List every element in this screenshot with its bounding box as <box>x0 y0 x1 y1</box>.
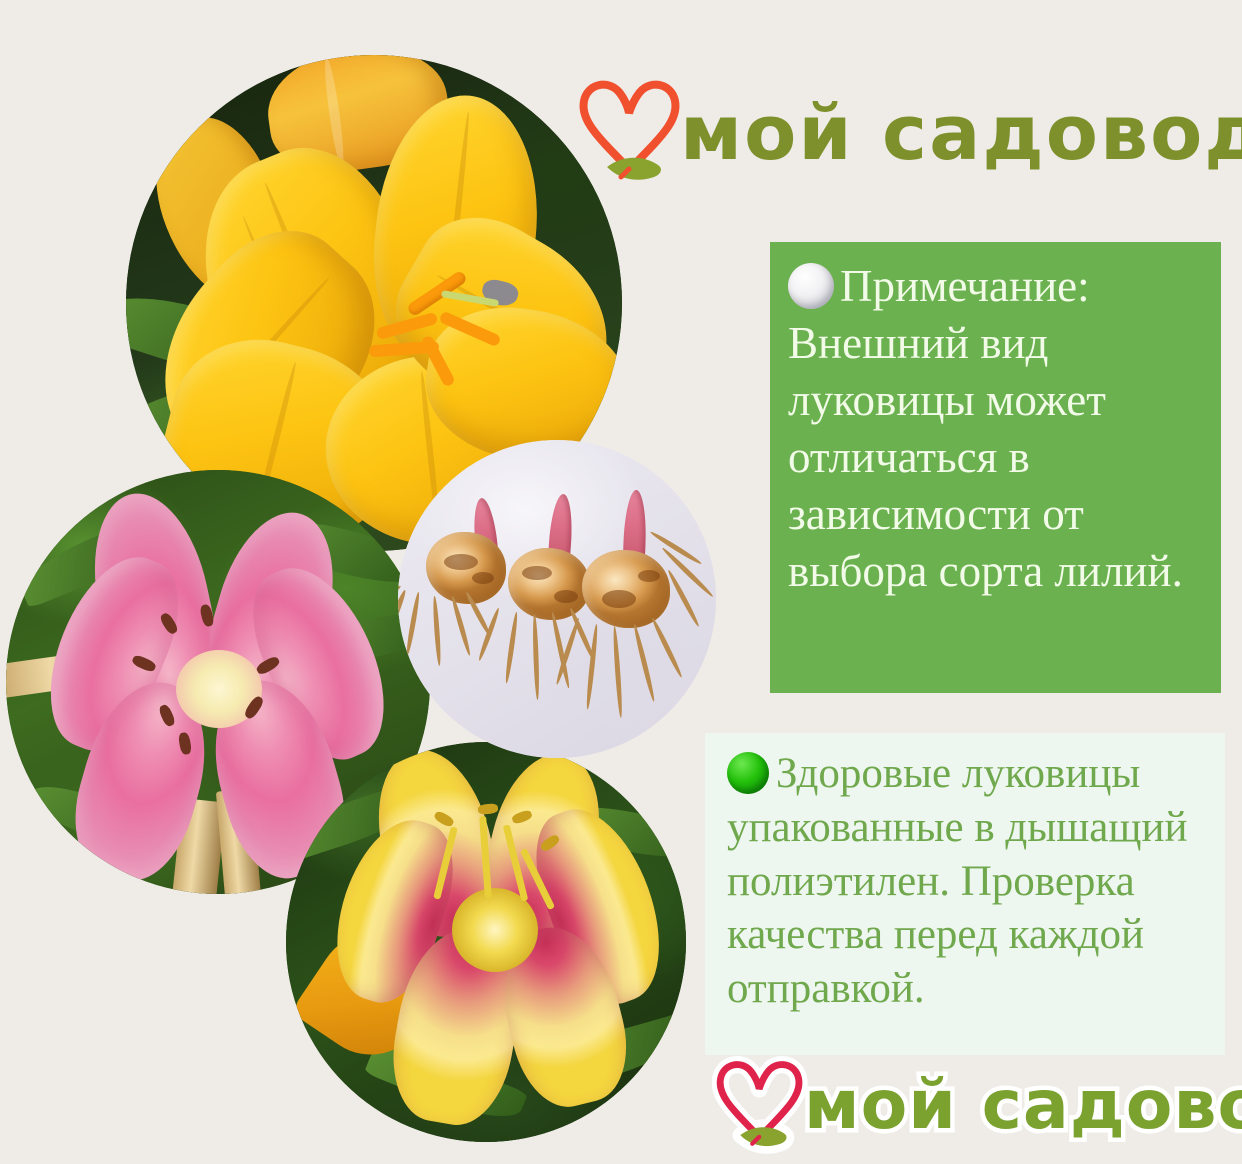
product-info-card: мой садовод Примечание: Внешний вид луко… <box>0 0 1242 1164</box>
brand-logo-watermark: мой садовод <box>712 1048 1242 1164</box>
note-box-secondary: Здоровые луковицы упакованные в дышащий … <box>705 733 1225 1055</box>
note-primary-label: Примечание: <box>840 261 1090 311</box>
brand-name-watermark: мой садовод <box>804 1072 1242 1140</box>
note-secondary-body: Здоровые луковицы упакованные в дышащий … <box>727 750 1188 1012</box>
brand-logo-top: мой садовод <box>574 58 1224 208</box>
note-primary-body: Внешний вид луковицы может отличаться в … <box>788 318 1183 596</box>
lily-bulb <box>582 550 670 628</box>
white-circle-bullet-icon <box>788 263 834 309</box>
photo-red-yellow-lily <box>286 742 686 1142</box>
brand-name-top: мой садовод <box>680 95 1242 171</box>
photo-lily-bulbs <box>398 440 716 758</box>
heart-leaf-icon <box>574 73 686 193</box>
heart-leaf-icon <box>712 1054 808 1158</box>
green-circle-bullet-icon <box>727 752 769 794</box>
lily-bulb <box>508 548 590 620</box>
note-secondary-text: Здоровые луковицы упакованные в дышащий … <box>727 747 1215 1016</box>
note-box-primary: Примечание: Внешний вид луковицы может о… <box>770 242 1221 693</box>
note-primary-text: Примечание: Внешний вид луковицы может о… <box>788 258 1207 600</box>
